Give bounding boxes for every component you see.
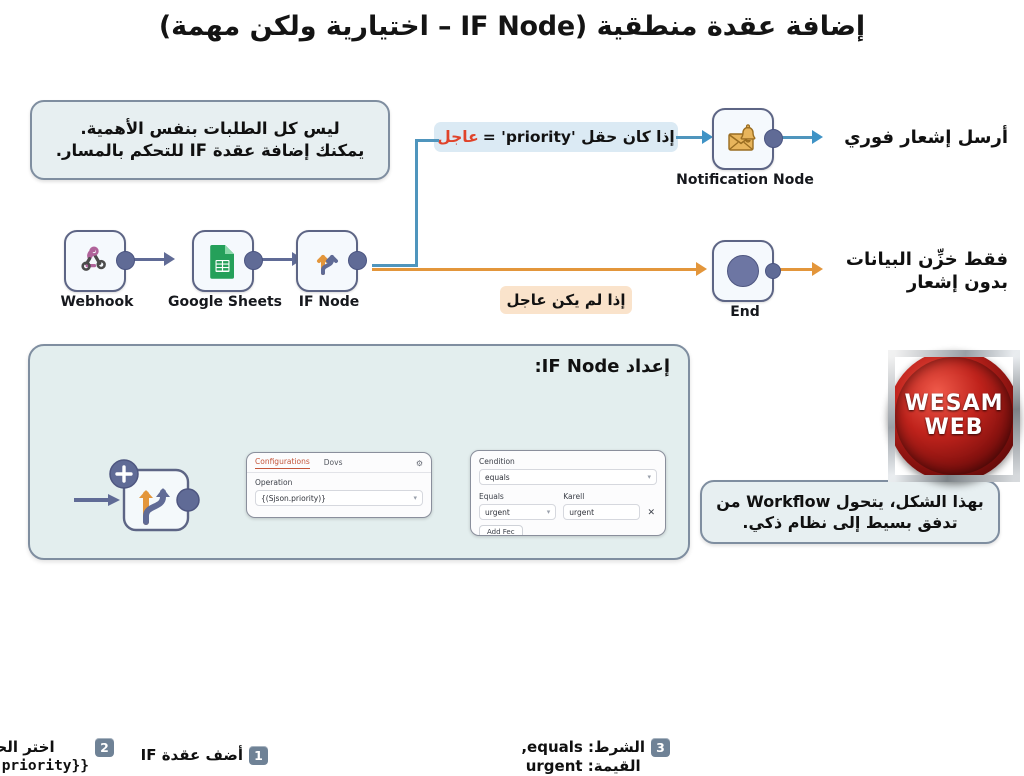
operation-label: Operation <box>255 478 423 487</box>
result-text-false: فقط خزِّن البيانات بدون إشعار <box>828 248 1008 295</box>
note-line-2: يمكنك إضافة عقدة IF للتحكم بالمسار. <box>56 141 365 160</box>
notification-node-label: Notification Node <box>676 172 814 188</box>
gear-icon[interactable]: ⚙ <box>416 459 423 468</box>
condition-false-label: إذا لم يكن عاجل <box>500 286 632 314</box>
step-2-line-2: {{$json.priority}} <box>0 757 89 775</box>
result-false-line-1: فقط خزِّن البيانات <box>846 249 1008 270</box>
step-3-line-2: القيمة: urgent <box>521 757 645 776</box>
mini-condition-panel[interactable]: Cendition equals ▾ Equals urgent ▾ Karel… <box>470 450 666 536</box>
google-sheets-icon <box>207 243 239 279</box>
operator-column: Equals urgent ▾ <box>479 489 556 520</box>
tab-configurations[interactable]: Configurations <box>255 457 310 469</box>
value-input[interactable]: urgent <box>563 504 640 520</box>
value-input-text: urgent <box>569 508 594 517</box>
end-output-port[interactable] <box>765 263 781 279</box>
operation-value: {(Sjson.priority)} <box>261 494 326 503</box>
wire-true-seg-horizontal-2 <box>415 139 439 142</box>
arrowhead-result-true <box>812 130 823 144</box>
circle-icon <box>727 255 759 287</box>
step-3-badge: 3 <box>651 738 670 757</box>
google-sheets-node-label: Google Sheets <box>168 294 282 310</box>
setup-panel-title: إعداد IF Node: <box>534 356 670 377</box>
value-column: Karell urgent <box>563 489 640 520</box>
flow-node-if[interactable]: IF Node <box>300 230 358 288</box>
step-2-line-1: اختر الحقل: <box>0 738 89 757</box>
wire-true-seg-horizontal-1 <box>372 264 418 267</box>
brand-logo: WESAM WEB <box>888 350 1020 482</box>
remove-condition-icon[interactable]: ✕ <box>647 508 657 520</box>
notification-output-port[interactable] <box>764 129 783 148</box>
condition-select[interactable]: equals ▾ <box>479 469 657 485</box>
chevron-down-icon[interactable]: ▾ <box>413 494 417 502</box>
wire-false-to-end <box>372 268 702 271</box>
note-card-importance: ليس كل الطلبات بنفس الأهمية. يمكنك إضافة… <box>30 100 390 180</box>
operator-label: Equals <box>479 492 556 501</box>
add-condition-button[interactable]: Add Fec <box>479 525 523 536</box>
flow-node-webhook[interactable]: Webhook <box>68 230 126 288</box>
setup-step-1: 1 أضف عقدة IF <box>141 746 268 765</box>
if-node-output-port[interactable] <box>348 251 367 270</box>
condition-label: Cendition <box>479 457 657 466</box>
wire-webhook-to-sheets <box>130 258 166 261</box>
condition-value: equals <box>485 473 510 482</box>
operator-select[interactable]: urgent ▾ <box>479 504 556 520</box>
google-sheets-output-port[interactable] <box>244 251 263 270</box>
chevron-down-icon-condition[interactable]: ▾ <box>647 473 651 481</box>
step-1-line-1: أضف عقدة IF <box>141 746 243 765</box>
step-2-badge: 2 <box>95 738 114 757</box>
webhook-output-port[interactable] <box>116 251 135 270</box>
end-node-label: End <box>730 304 760 320</box>
page-title: إضافة عقدة منطقية (IF Node – اختيارية ول… <box>0 10 1024 44</box>
logo-line-1: WESAM <box>904 393 1003 415</box>
conclusion-line-2: تدفق بسيط إلى نظام ذكي. <box>742 513 957 532</box>
logo-line-2: WEB <box>924 417 983 439</box>
if-node-label: IF Node <box>299 294 360 310</box>
condition-true-prefix: إذا كان حقل 'priority' = <box>483 128 675 146</box>
mini-config-panel[interactable]: Configurations Dovs ⚙ Operation {(Sjson.… <box>246 452 432 518</box>
condition-true-value: عاجل <box>437 128 478 146</box>
branch-icon <box>310 244 344 278</box>
conclusion-line-1: بهذا الشكل، يتحول Workflow من <box>716 492 984 511</box>
setup-step-2: 2 اختر الحقل: {{$json.priority}} <box>0 738 114 775</box>
wire-sheets-to-if <box>258 258 294 261</box>
mini-config-tabbar[interactable]: Configurations Dovs ⚙ <box>247 453 431 473</box>
note-card-conclusion: بهذا الشكل، يتحول Workflow من تدفق بسيط … <box>700 480 1000 544</box>
condition-true-label: إذا كان حقل 'priority' = عاجل <box>434 122 678 152</box>
operation-select[interactable]: {(Sjson.priority)} ▾ <box>255 490 423 506</box>
step-3-line-1: الشرط: equals, <box>521 738 645 757</box>
flow-node-notification[interactable]: Notification Node <box>716 108 774 166</box>
operator-value: urgent <box>485 508 510 517</box>
wire-true-seg-vertical <box>415 140 418 267</box>
step-1-illustration <box>66 448 226 544</box>
value-label: Karell <box>563 492 640 501</box>
note-line-1: ليس كل الطلبات بنفس الأهمية. <box>80 119 339 138</box>
tab-docs[interactable]: Dovs <box>324 458 343 469</box>
envelope-bell-icon <box>724 122 762 156</box>
arrowhead-end <box>696 262 707 276</box>
setup-step-3: 3 الشرط: equals, القيمة: urgent <box>521 738 670 776</box>
flow-node-google-sheets[interactable]: Google Sheets <box>196 230 254 288</box>
step-1-badge: 1 <box>249 746 268 765</box>
chevron-down-icon-operator[interactable]: ▾ <box>547 508 551 516</box>
result-false-line-2: بدون إشعار <box>907 272 1008 293</box>
arrowhead-sheets <box>164 252 175 266</box>
arrowhead-result-false <box>812 262 823 276</box>
webhook-node-label: Webhook <box>61 294 134 310</box>
flow-node-end[interactable]: End <box>716 240 774 298</box>
result-text-true: أرسل إشعار فوري <box>828 126 1008 149</box>
webhook-icon <box>77 243 113 279</box>
